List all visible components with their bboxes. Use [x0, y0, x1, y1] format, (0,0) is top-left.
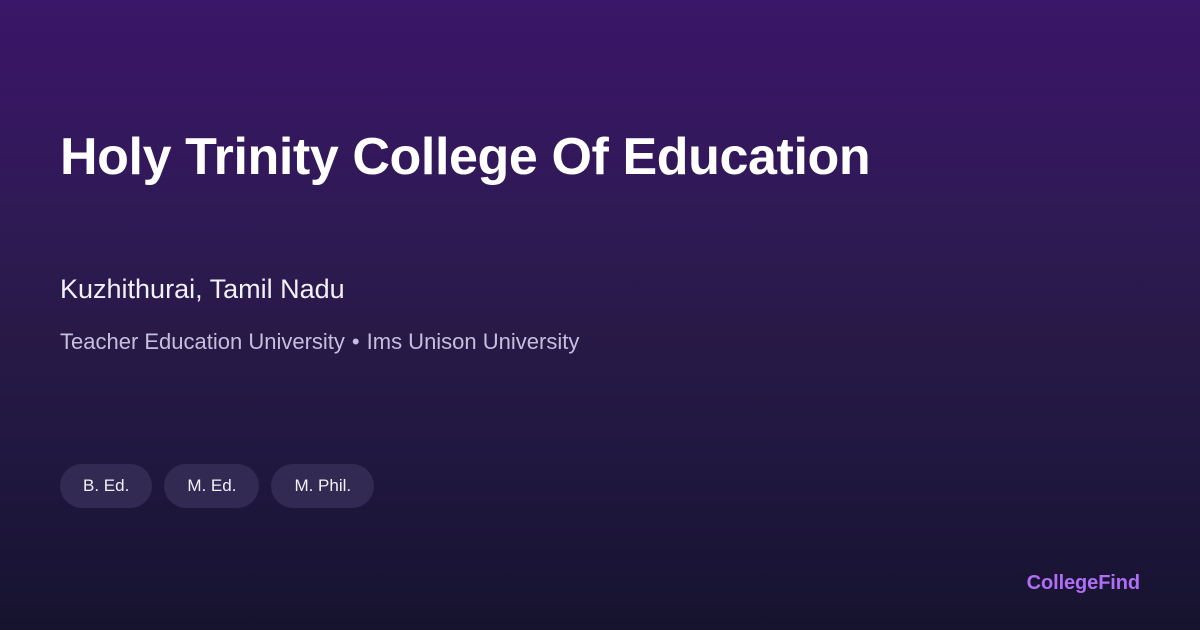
affiliation-secondary: Ims Unison University [367, 329, 580, 354]
card-content: Holy Trinity College Of Education Kuzhit… [60, 0, 1140, 630]
program-pill-list: B. Ed. M. Ed. M. Phil. [60, 464, 374, 508]
program-pill-m-phil[interactable]: M. Phil. [271, 464, 374, 508]
college-share-card: Holy Trinity College Of Education Kuzhit… [0, 0, 1200, 630]
page-title: Holy Trinity College Of Education [60, 126, 870, 188]
program-pill-b-ed[interactable]: B. Ed. [60, 464, 152, 508]
college-location: Kuzhithurai, Tamil Nadu [60, 271, 345, 307]
brand-logo-text[interactable]: CollegeFind [1027, 570, 1140, 596]
program-pill-m-ed[interactable]: M. Ed. [164, 464, 259, 508]
college-affiliation: Teacher Education University•Ims Unison … [60, 327, 579, 357]
affiliation-primary: Teacher Education University [60, 329, 345, 354]
affiliation-separator-bullet-icon: • [345, 327, 367, 357]
